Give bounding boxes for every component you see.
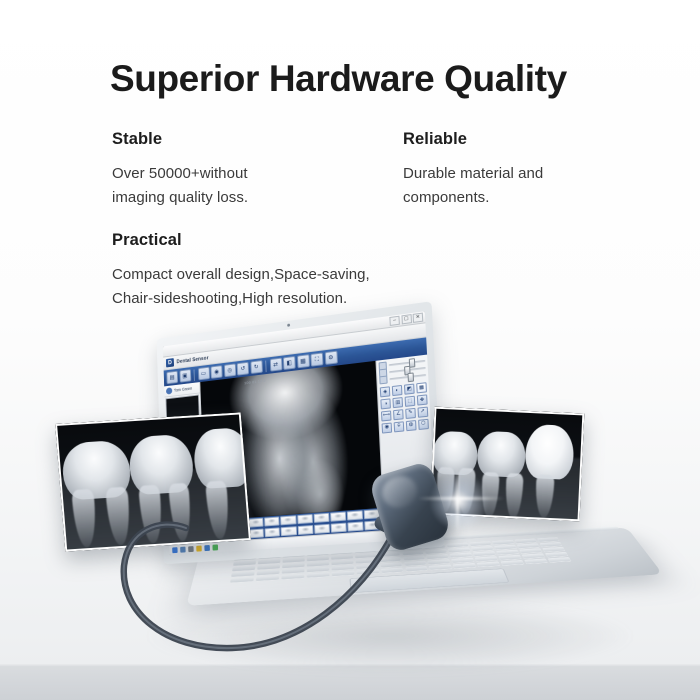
connect-icon[interactable]	[188, 546, 194, 552]
sensor-highlight	[378, 472, 420, 512]
filter-sharpen-icon[interactable]: ◈	[380, 386, 391, 398]
toolbar-separator	[265, 360, 266, 372]
angle-icon[interactable]: ∠	[393, 409, 404, 421]
ready-indicator-icon[interactable]	[212, 544, 218, 550]
adjustment-sliders	[379, 357, 427, 384]
patient-name: Tom Green	[174, 386, 192, 393]
caries-detect-icon[interactable]: ◉	[382, 422, 393, 434]
toolbar-separator	[194, 369, 195, 380]
filter-smooth-icon[interactable]: ◐	[392, 385, 403, 397]
product-feature-banner: Superior Hardware Quality Stable Over 50…	[0, 0, 700, 700]
keyboard-key[interactable]	[524, 559, 547, 565]
measure-icon[interactable]: ▦	[297, 354, 310, 368]
keyboard-key[interactable]	[501, 560, 524, 566]
keyboard-key[interactable]	[230, 577, 254, 583]
fit-screen-icon[interactable]: ⛶	[310, 352, 323, 366]
endo-icon[interactable]: ⌾	[394, 421, 405, 433]
save-icon[interactable]: ▣	[179, 369, 191, 383]
filter-edge-icon[interactable]: ◩	[404, 384, 415, 396]
ruler-icon[interactable]: ⟺	[381, 410, 392, 422]
tooth-chart-cell[interactable]	[314, 523, 330, 533]
webcam-icon	[287, 324, 290, 327]
annotate-icon[interactable]: ✎	[405, 408, 416, 420]
patient-icon	[166, 387, 172, 394]
keyboard-key[interactable]	[281, 574, 304, 580]
tooth-chart-cell[interactable]	[313, 513, 329, 523]
tooth-chart-cell[interactable]	[280, 515, 296, 525]
gamma-icon	[379, 375, 387, 384]
search-icon[interactable]	[180, 547, 186, 553]
keyboard-key[interactable]	[256, 575, 279, 581]
capture-icon[interactable]	[196, 546, 202, 552]
tooth-chart-cell[interactable]	[249, 528, 264, 538]
slider-track[interactable]	[389, 374, 426, 380]
tooth-chart-cell[interactable]	[297, 514, 313, 524]
tooth-chart-cell[interactable]	[281, 526, 297, 536]
tooth-chart-cell[interactable]	[330, 522, 346, 532]
print-icon[interactable]: ▭	[198, 367, 210, 381]
laptop-device: – ▢ ✕ D Dental Sensor ▤▣▭◉◎↺↻⇄◧▦⛶⚙	[0, 0, 700, 700]
windows-icon[interactable]	[172, 547, 178, 553]
crop-icon[interactable]: ⬚	[404, 396, 415, 408]
light-streak-vertical	[456, 468, 459, 534]
maximize-button[interactable]: ▢	[401, 314, 412, 324]
tooth-chart-cell[interactable]	[264, 517, 280, 527]
app-logo-icon: D	[166, 358, 174, 367]
keyboard-key[interactable]	[429, 565, 452, 571]
keyboard-key[interactable]	[548, 557, 571, 562]
photo-border	[55, 412, 251, 551]
slider-handle[interactable]	[407, 372, 414, 382]
keyboard-key[interactable]	[477, 562, 500, 568]
keyboard-key[interactable]	[356, 569, 379, 575]
tooth-chart-cell[interactable]	[265, 527, 281, 537]
color-map-icon[interactable]: ▩	[416, 382, 427, 394]
tooth-chart-cell[interactable]	[347, 510, 363, 520]
settings-icon[interactable]: ⚙	[324, 351, 337, 365]
rotate-right-icon[interactable]: ↻	[250, 360, 263, 374]
invert-icon[interactable]: ◑	[380, 398, 391, 410]
light-flare	[428, 470, 490, 532]
arrow-icon[interactable]: ➚	[417, 406, 428, 418]
light-streak-horizontal	[418, 497, 504, 500]
zoom-in-icon[interactable]: ◉	[210, 365, 222, 379]
open-folder-icon[interactable]: ▤	[166, 371, 178, 385]
tooth-chart-cell[interactable]	[330, 512, 346, 522]
keyboard-key[interactable]	[307, 572, 330, 578]
zoom-out-icon[interactable]: ◎	[224, 363, 236, 377]
perio-icon[interactable]: ◍	[406, 420, 417, 432]
close-button[interactable]: ✕	[413, 313, 424, 323]
xray-photo-left	[55, 412, 251, 551]
tooth-chart-cell[interactable]	[248, 518, 263, 528]
histogram-icon[interactable]: ▥	[392, 397, 403, 409]
contrast-icon[interactable]: ◧	[283, 356, 296, 370]
tooth-chart-cell[interactable]	[297, 525, 313, 535]
flip-icon[interactable]: ⇄	[269, 358, 282, 372]
minimize-button[interactable]: –	[389, 316, 400, 326]
settings-icon[interactable]	[204, 545, 210, 551]
tooth-chart-cell[interactable]	[347, 521, 364, 531]
rotate-left-icon[interactable]: ↺	[237, 362, 249, 376]
implant-icon[interactable]: ⬡	[418, 418, 429, 430]
pan-icon[interactable]: ✥	[416, 394, 427, 406]
tool-button-grid: ◈◐◩▩◑▥⬚✥⟺∠✎➚◉⌾◍⬡	[380, 382, 429, 433]
keyboard-key[interactable]	[381, 568, 404, 574]
keyboard-key[interactable]	[453, 563, 476, 569]
keyboard-key[interactable]	[332, 571, 355, 577]
app-name: Dental Sensor	[176, 355, 208, 365]
keyboard-key[interactable]	[405, 566, 428, 572]
